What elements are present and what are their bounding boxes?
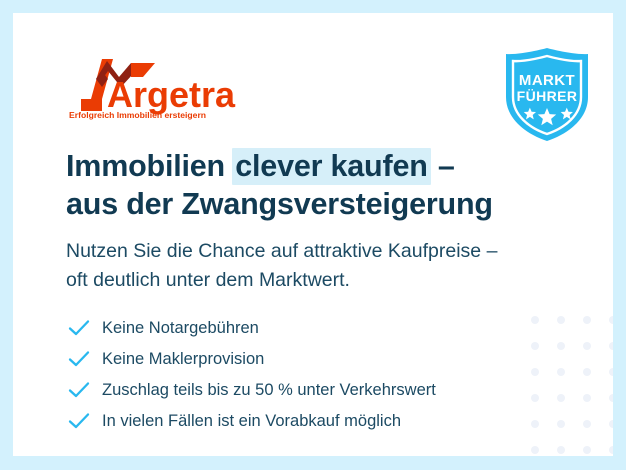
list-item: Zuschlag teils bis zu 50 % unter Verkehr… <box>68 374 528 405</box>
ad-banner: Argetra Erfolgreich Immobilien ersteiger… <box>0 0 626 470</box>
decorative-dot <box>583 342 591 350</box>
badge-line-2: FÜHRER <box>517 88 578 104</box>
decorative-dot <box>583 368 591 376</box>
check-icon <box>68 381 102 399</box>
decorative-dot <box>609 368 613 376</box>
check-icon <box>68 412 102 430</box>
market-leader-badge: MARKT FÜHRER <box>502 47 592 143</box>
list-item: Keine Notargebühren <box>68 312 528 343</box>
check-icon <box>68 350 102 368</box>
decorative-dot <box>531 368 539 376</box>
decorative-dot <box>531 316 539 324</box>
subtitle-line-1: Nutzen Sie die Chance auf attraktive Kau… <box>66 240 497 262</box>
decorative-dot <box>583 394 591 402</box>
headline-highlight: clever kaufen <box>232 148 430 185</box>
list-item: In vielen Fällen ist ein Vorabkauf mögli… <box>68 405 528 436</box>
page-title: Immobilien clever kaufen – aus der Zwang… <box>66 147 536 223</box>
decorative-dot <box>609 316 613 324</box>
subtitle: Nutzen Sie die Chance auf attraktive Kau… <box>66 237 566 295</box>
headline-part-2: – <box>430 149 455 183</box>
headline-part-1: Immobilien <box>66 149 233 183</box>
decorative-dot <box>609 420 613 428</box>
decorative-dot <box>557 420 565 428</box>
decorative-dot <box>557 394 565 402</box>
benefit-label: Keine Notargebühren <box>102 318 259 338</box>
list-item: Keine Maklerprovision <box>68 343 528 374</box>
subtitle-line-2: oft deutlich unter dem Marktwert. <box>66 269 350 291</box>
argetra-logo: Argetra Erfolgreich Immobilien ersteiger… <box>69 57 269 121</box>
decorative-dot <box>557 368 565 376</box>
decorative-dot <box>583 316 591 324</box>
benefit-label: Zuschlag teils bis zu 50 % unter Verkehr… <box>102 380 436 400</box>
promo-card: Argetra Erfolgreich Immobilien ersteiger… <box>13 13 613 456</box>
logo-wordmark: Argetra <box>107 74 236 115</box>
decorative-dot <box>583 420 591 428</box>
headline-line-2: aus der Zwangsversteigerung <box>66 187 493 221</box>
benefit-list: Keine Notargebühren Keine Maklerprovisio… <box>68 312 528 436</box>
decorative-dot <box>557 316 565 324</box>
decorative-dot <box>531 342 539 350</box>
decorative-dot <box>531 394 539 402</box>
decorative-dot <box>609 394 613 402</box>
logo-tagline: Erfolgreich Immobilien ersteigern <box>69 110 206 120</box>
decorative-dot <box>557 342 565 350</box>
decorative-dot <box>531 420 539 428</box>
check-icon <box>68 319 102 337</box>
decorative-dot <box>583 446 591 454</box>
benefit-label: In vielen Fällen ist ein Vorabkauf mögli… <box>102 411 401 431</box>
badge-line-1: MARKT <box>519 72 575 89</box>
decorative-dot <box>531 446 539 454</box>
benefit-label: Keine Maklerprovision <box>102 349 264 369</box>
decorative-dot <box>609 342 613 350</box>
decorative-dot <box>557 446 565 454</box>
decorative-dot <box>609 446 613 454</box>
decorative-dot-grid <box>531 316 613 456</box>
